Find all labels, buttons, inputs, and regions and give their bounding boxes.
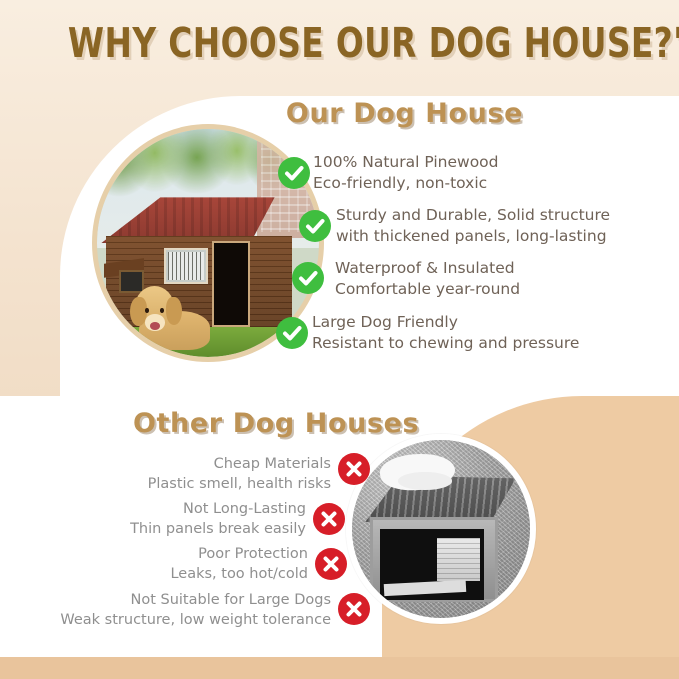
con-item: Not Long-Lasting Thin panels break easil… [0, 499, 306, 540]
cons-product-photo [346, 434, 536, 624]
dog-mouth [150, 322, 160, 330]
con-item: Not Suitable for Large Dogs Weak structu… [0, 590, 331, 631]
pro-item: Waterproof & Insulated Comfortable year-… [335, 258, 520, 301]
pro-item: Large Dog Friendly Resistant to chewing … [312, 312, 579, 355]
pro-headline: Large Dog Friendly [312, 312, 579, 333]
dog-eye-left [145, 308, 150, 313]
pro-headline: Waterproof & Insulated [335, 258, 520, 279]
x-icon [338, 453, 370, 485]
con-headline: Cheap Materials [0, 454, 331, 474]
check-icon [278, 157, 310, 189]
pro-detail: Eco-friendly, non-toxic [313, 173, 499, 194]
con-headline: Not Suitable for Large Dogs [0, 590, 331, 610]
con-item: Cheap Materials Plastic smell, health ri… [0, 454, 331, 495]
pro-detail: Comfortable year-round [335, 279, 520, 300]
broken-board [437, 538, 480, 581]
house-window [164, 248, 208, 284]
pro-detail: with thickened panels, long-lasting [336, 226, 610, 247]
pros-section-title: Our Dog House [0, 98, 679, 129]
x-icon [338, 593, 370, 625]
pro-headline: Sturdy and Durable, Solid structure [336, 205, 610, 226]
pro-item: 100% Natural Pinewood Eco-friendly, non-… [313, 152, 499, 195]
con-headline: Poor Protection [0, 544, 308, 564]
cons-section-title: Other Dog Houses [0, 408, 679, 439]
con-detail: Thin panels break easily [0, 519, 306, 539]
infographic-canvas: WHY CHOOSE OUR DOG HOUSE?" Our Dog House… [0, 0, 679, 679]
dog-ear-right [166, 297, 181, 325]
check-icon [276, 317, 308, 349]
page-title: WHY CHOOSE OUR DOG HOUSE?" [68, 22, 611, 65]
house-door [212, 241, 250, 328]
con-detail: Plastic smell, health risks [0, 474, 331, 494]
pro-detail: Resistant to chewing and pressure [312, 333, 579, 354]
con-item: Poor Protection Leaks, too hot/cold [0, 544, 308, 585]
check-icon [292, 262, 324, 294]
con-detail: Leaks, too hot/cold [0, 564, 308, 584]
snow-patch-secondary [398, 472, 451, 490]
con-headline: Not Long-Lasting [0, 499, 306, 519]
x-icon [313, 503, 345, 535]
golden-retriever [135, 286, 210, 350]
bottom-tan-strip [0, 657, 679, 679]
pro-headline: 100% Natural Pinewood [313, 152, 499, 173]
check-icon [299, 210, 331, 242]
pro-item: Sturdy and Durable, Solid structure with… [336, 205, 610, 248]
con-detail: Weak structure, low weight tolerance [0, 610, 331, 630]
x-icon [315, 548, 347, 580]
